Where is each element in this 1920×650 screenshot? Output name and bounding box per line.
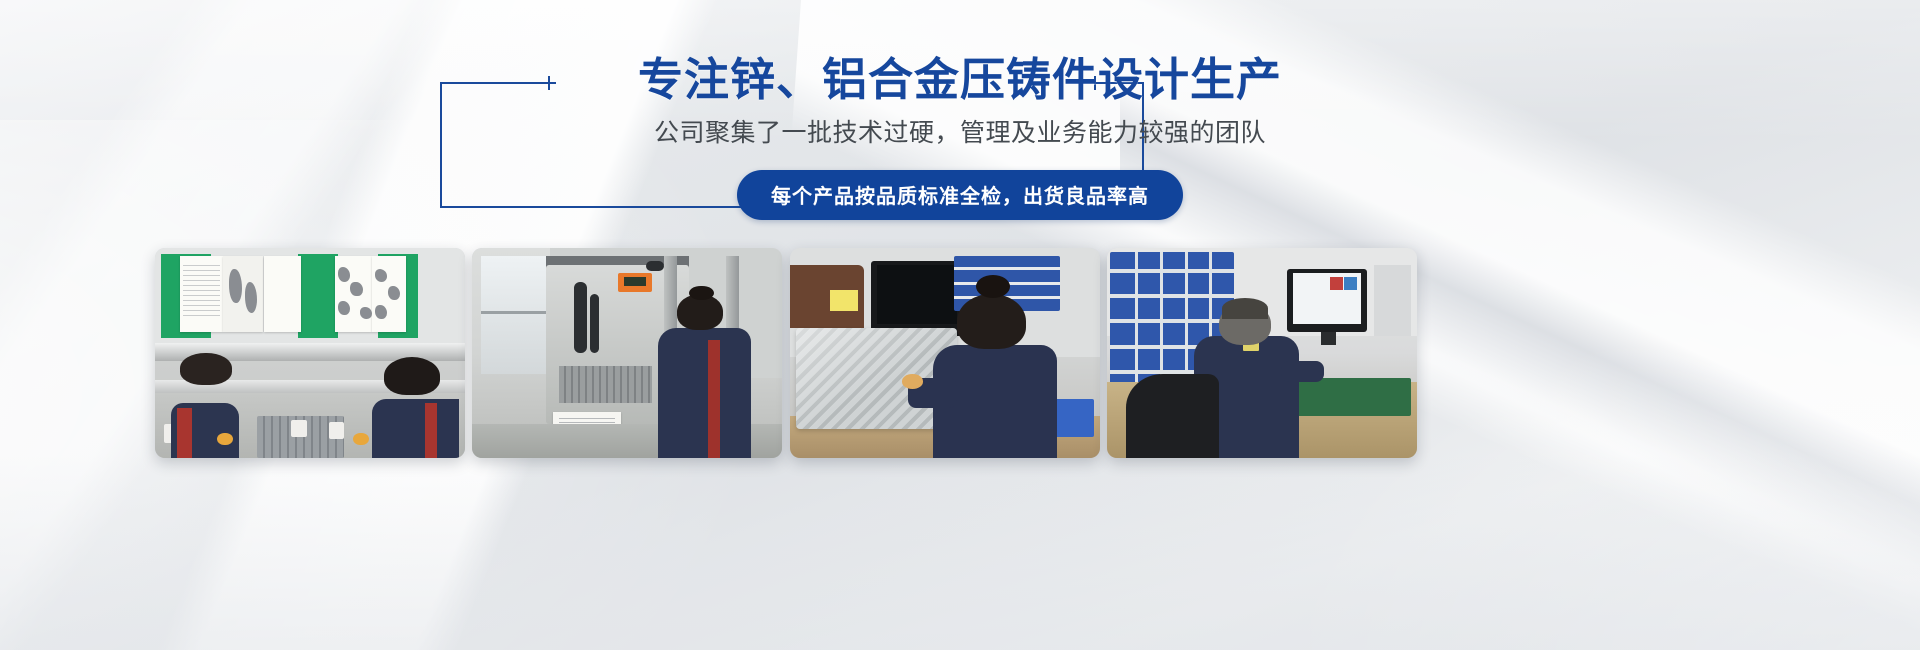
page-subtitle: 公司聚集了一批技术过硬，管理及业务能力较强的团队 xyxy=(0,114,1920,152)
photo-quality-check-desk-image xyxy=(790,248,1100,458)
promo-banner: 专注锌、铝合金压铸件设计生产 公司聚集了一批技术过硬，管理及业务能力较强的团队 … xyxy=(0,0,1920,650)
photo-gallery xyxy=(0,248,1920,458)
photo-warehouse-inspection[interactable] xyxy=(155,248,465,458)
photo-die-casting-machine-image xyxy=(472,248,782,458)
photo-die-casting-machine[interactable] xyxy=(472,248,782,458)
page-title: 专注锌、铝合金压铸件设计生产 xyxy=(0,52,1920,108)
photo-office-workstation-image xyxy=(1107,248,1417,458)
photo-office-workstation[interactable] xyxy=(1107,248,1417,458)
photo-warehouse-inspection-image xyxy=(155,248,465,458)
quality-badge: 每个产品按品质标准全检，出货良品率高 xyxy=(737,170,1183,220)
headline-block: 专注锌、铝合金压铸件设计生产 公司聚集了一批技术过硬，管理及业务能力较强的团队 … xyxy=(0,52,1920,212)
photo-quality-check-desk[interactable] xyxy=(790,248,1100,458)
